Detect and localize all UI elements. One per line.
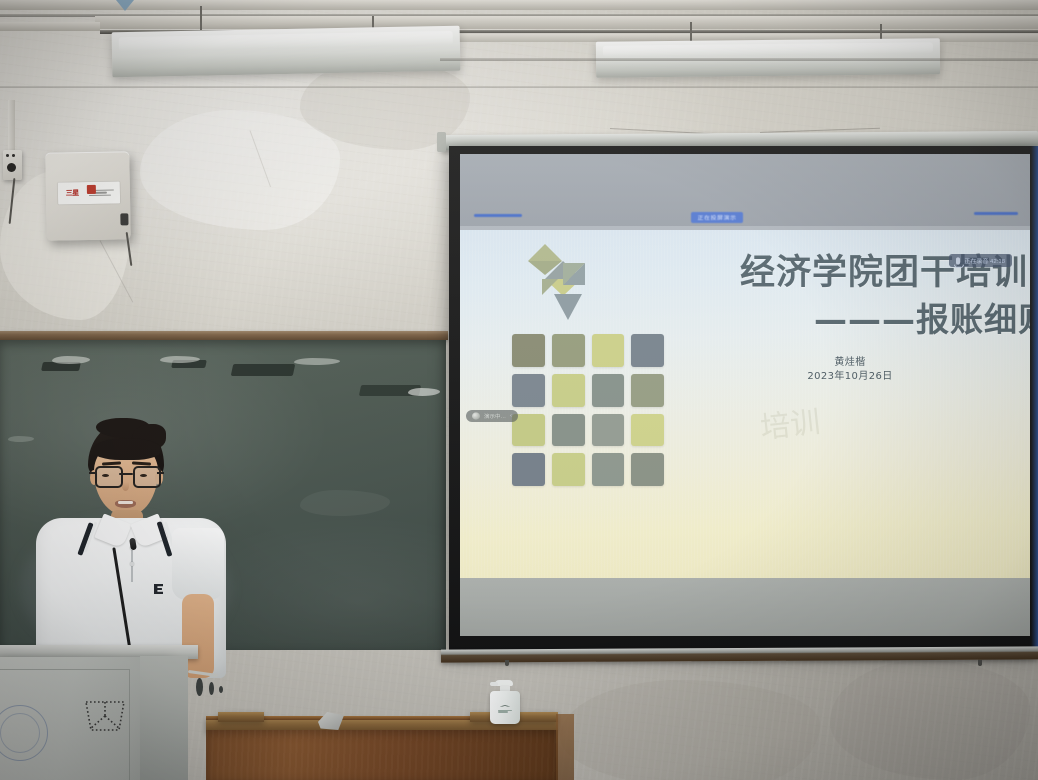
lectern-side-face — [140, 656, 188, 780]
light-hanger — [690, 22, 692, 42]
glasses-bridge — [119, 473, 133, 475]
chalk-dust — [408, 388, 440, 396]
chalk-dust — [52, 356, 90, 364]
ceiling-beam — [0, 22, 100, 31]
shirt-sleeve — [172, 528, 224, 600]
slide-title-line2: ———报账细则 — [814, 302, 1030, 339]
glasses-temple — [157, 472, 164, 474]
grid-cell — [592, 453, 625, 486]
grid-cell — [512, 334, 545, 367]
rail-clip — [505, 660, 509, 666]
grid-cell — [592, 374, 625, 407]
grid-cell — [512, 453, 545, 486]
classroom-photo: 三星 — [0, 0, 1038, 780]
ceiling-beam — [95, 16, 1038, 29]
lectern-emblem — [80, 696, 130, 736]
grid-cell — [552, 374, 585, 407]
lectern-vent — [209, 682, 214, 695]
label-red-square — [87, 185, 96, 194]
control-box-label: 三星 — [58, 181, 120, 204]
back-furniture — [556, 714, 574, 780]
blackboard-top-rail — [0, 331, 448, 340]
grid-cell — [631, 453, 664, 486]
ceiling-pipe — [0, 86, 1038, 88]
os-banner[interactable]: 正在投屏演示 — [691, 212, 743, 223]
glasses-temple — [89, 472, 96, 474]
grid-cell — [552, 414, 585, 447]
lectern-vent — [196, 678, 203, 696]
grid-cell — [592, 414, 625, 447]
recording-badge[interactable]: 正在录音 42:18 — [949, 254, 1012, 267]
teeth — [118, 501, 133, 504]
tangram-piece — [563, 263, 585, 285]
os-top-bar — [460, 154, 1030, 226]
presentation-slide: 培训 — [460, 230, 1030, 578]
os-right-indicator — [974, 212, 1018, 215]
tangram-piece — [542, 279, 558, 295]
tangram-piece — [528, 244, 562, 261]
ceiling-beam — [0, 0, 1038, 10]
desk-front[interactable] — [206, 730, 558, 780]
slide-date: 2023年10月26日 — [790, 370, 910, 384]
shirt-logo — [154, 584, 163, 594]
slide-color-grid — [512, 334, 664, 486]
presentation-status-label: 演示中… — [484, 412, 506, 419]
chalk-dust — [294, 358, 340, 365]
bottle-body — [490, 691, 520, 724]
tangram-bird-logo — [520, 238, 606, 324]
light-hanger — [200, 6, 202, 30]
grid-cell — [512, 374, 545, 407]
shirt-button — [130, 562, 134, 566]
brand-mark: 三星 — [66, 188, 79, 198]
recording-label: 正在录音 42:18 — [964, 256, 1005, 264]
grid-cell — [552, 453, 585, 486]
eye — [102, 474, 109, 477]
os-left-indicator — [474, 214, 522, 217]
wall-outlet — [3, 150, 22, 180]
microphone-icon — [956, 257, 960, 264]
screen-bottom-band — [460, 578, 1030, 636]
projector-screen-surface: 正在投屏演示 培训 — [460, 154, 1030, 636]
hair — [93, 438, 161, 460]
ceiling-pipe — [440, 58, 1038, 61]
rail-clip — [978, 660, 982, 666]
grid-cell — [552, 334, 585, 367]
grid-cell — [631, 414, 664, 447]
shirt-collar — [94, 513, 132, 548]
hand-sanitizer-bottle[interactable] — [490, 680, 520, 724]
control-box-port — [120, 213, 128, 225]
wall-patch — [560, 680, 820, 780]
bottle-nozzle — [490, 682, 498, 686]
lectern-vent — [219, 686, 223, 693]
eye — [140, 474, 147, 477]
wall-control-box[interactable]: 三星 — [45, 151, 131, 240]
desk-shelf — [218, 712, 264, 722]
grid-cell — [592, 334, 625, 367]
presenter — [14, 418, 244, 678]
glasses-lens — [95, 466, 123, 488]
presentation-status-badge[interactable]: 演示中… ‹ — [466, 410, 518, 422]
chalk-dust — [300, 490, 390, 516]
chevron-left-icon[interactable]: ‹ — [510, 413, 512, 418]
status-dot-icon — [472, 412, 480, 419]
chalk-smudge — [231, 364, 296, 376]
bottle-logo-icon — [500, 705, 511, 709]
grid-cell — [631, 374, 664, 407]
grid-cell — [631, 334, 664, 367]
slide-author: 黄烓楷 — [790, 356, 910, 370]
tangram-piece — [554, 294, 582, 320]
screen-case-bracket — [437, 132, 446, 152]
fluorescent-tube-light — [112, 26, 461, 78]
os-banner-label: 正在投屏演示 — [697, 214, 736, 222]
projector-screen-frame: 正在投屏演示 培训 — [449, 146, 1038, 650]
bottle-label — [494, 705, 517, 713]
glasses-lens — [133, 466, 161, 488]
nose — [122, 482, 129, 491]
